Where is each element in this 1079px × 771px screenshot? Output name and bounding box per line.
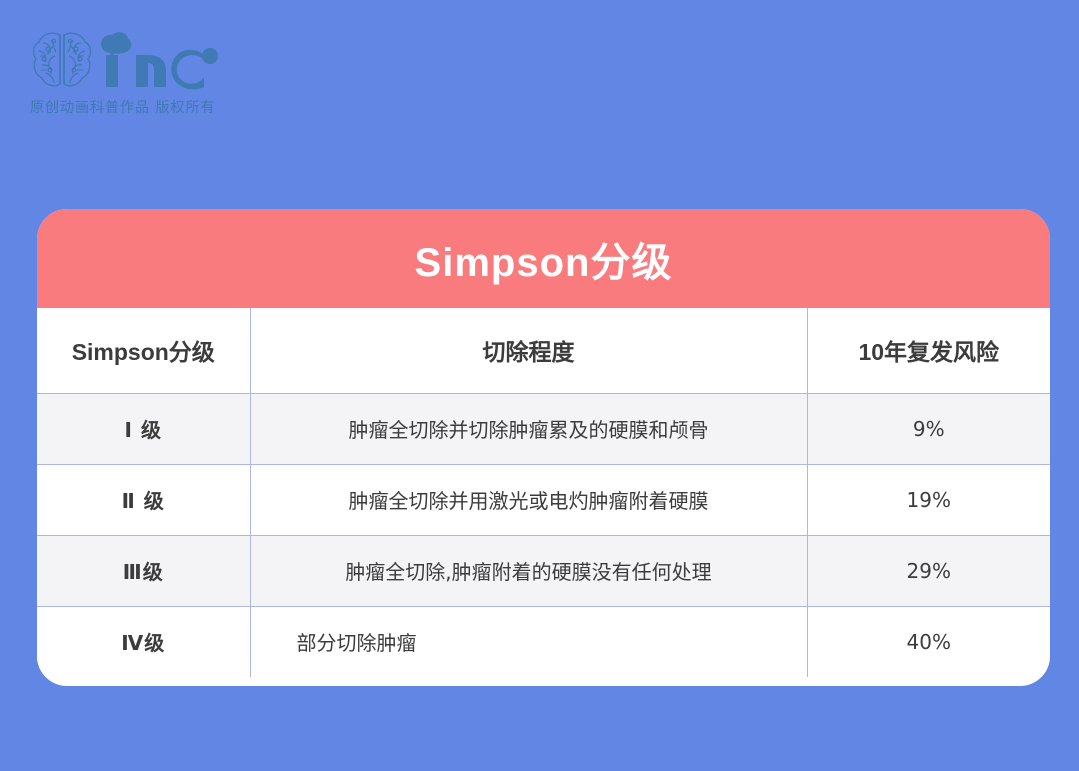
cell-description: 肿瘤全切除,肿瘤附着的硬膜没有任何处理 (250, 535, 807, 606)
logo-mark (30, 25, 230, 91)
brand-logo: 原创动画科普作品 版权所有 (30, 25, 230, 117)
table-row: Ⅱ 级 肿瘤全切除并用激光或电灼肿瘤附着硬膜 19% (37, 464, 1050, 535)
card-title-bar: Simpson分级 (37, 209, 1050, 308)
inc-wordmark-icon (100, 29, 220, 91)
cell-grade: Ⅳ级 (37, 606, 250, 677)
cell-description: 肿瘤全切除并用激光或电灼肿瘤附着硬膜 (250, 464, 807, 535)
brain-icon (30, 29, 94, 91)
cell-risk: 19% (807, 464, 1050, 535)
column-header-resection: 切除程度 (250, 308, 807, 393)
cell-grade: Ⅲ级 (37, 535, 250, 606)
cell-risk: 9% (807, 393, 1050, 464)
cell-grade: Ⅰ 级 (37, 393, 250, 464)
table-row: Ⅳ级 部分切除肿瘤 40% (37, 606, 1050, 677)
table-row: Ⅰ 级 肿瘤全切除并切除肿瘤累及的硬膜和颅骨 9% (37, 393, 1050, 464)
page-title: Simpson分级 (415, 230, 673, 288)
simpson-grading-table: Simpson分级 切除程度 10年复发风险 Ⅰ 级 肿瘤全切除并切除肿瘤累及的… (37, 308, 1050, 677)
cell-grade: Ⅱ 级 (37, 464, 250, 535)
cell-description: 肿瘤全切除并切除肿瘤累及的硬膜和颅骨 (250, 393, 807, 464)
cell-description: 部分切除肿瘤 (250, 606, 807, 677)
logo-tagline: 原创动画科普作品 版权所有 (30, 97, 230, 117)
table-header-row: Simpson分级 切除程度 10年复发风险 (37, 308, 1050, 393)
table-row: Ⅲ级 肿瘤全切除,肿瘤附着的硬膜没有任何处理 29% (37, 535, 1050, 606)
simpson-grading-card: Simpson分级 Simpson分级 切除程度 10年复发风险 Ⅰ 级 肿瘤全… (37, 209, 1050, 686)
cell-risk: 29% (807, 535, 1050, 606)
column-header-grade: Simpson分级 (37, 308, 250, 393)
column-header-risk: 10年复发风险 (807, 308, 1050, 393)
cell-risk: 40% (807, 606, 1050, 677)
